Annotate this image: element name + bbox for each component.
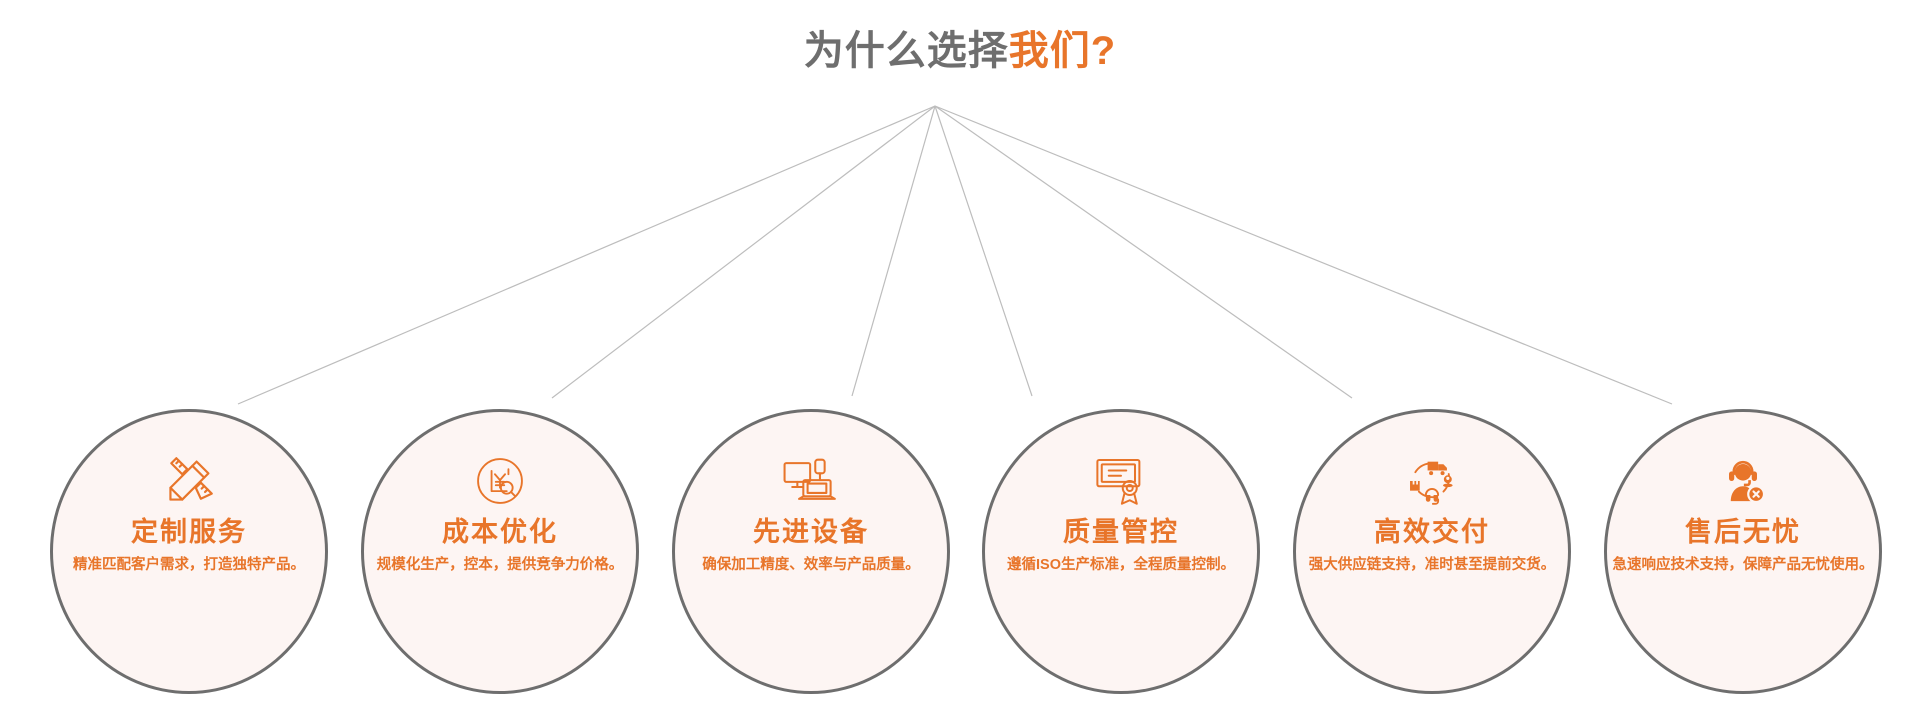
yen-search-icon bbox=[471, 452, 529, 510]
feature-circle-quality-control[interactable]: 质量管控遵循ISO生产标准，全程质量控制。 bbox=[982, 409, 1260, 694]
page-title: 为什么选择我们? bbox=[0, 28, 1920, 74]
feature-description: 急速响应技术支持，保障产品无忧使用。 bbox=[1613, 556, 1874, 575]
feature-description: 强大供应链支持，准时甚至提前交货。 bbox=[1309, 556, 1556, 575]
feature-description: 遵循ISO生产标准，全程质量控制。 bbox=[1007, 556, 1235, 575]
feature-heading: 质量管控 bbox=[1063, 516, 1179, 548]
feature-description: 精准匹配客户需求，打造独特产品。 bbox=[73, 556, 305, 575]
headset-agent-icon bbox=[1714, 452, 1772, 510]
certificate-award-icon bbox=[1092, 452, 1150, 510]
feature-circle-efficient-delivery[interactable]: 高效交付强大供应链支持，准时甚至提前交货。 bbox=[1293, 409, 1571, 694]
page-title-gray-part: 为什么选择 bbox=[804, 29, 1009, 73]
feature-heading: 先进设备 bbox=[753, 516, 869, 548]
connector-line-5 bbox=[935, 106, 1352, 398]
feature-heading: 高效交付 bbox=[1374, 516, 1490, 548]
feature-circle-cost-optimization[interactable]: 成本优化规模化生产，控本，提供竞争力价格。 bbox=[361, 409, 639, 694]
feature-description: 确保加工精度、效率与产品质量。 bbox=[702, 556, 920, 575]
feature-description: 规模化生产，控本，提供竞争力价格。 bbox=[377, 556, 624, 575]
connector-line-2 bbox=[552, 106, 935, 398]
feature-heading: 售后无忧 bbox=[1685, 516, 1801, 548]
feature-circle-advanced-equipment[interactable]: 先进设备确保加工精度、效率与产品质量。 bbox=[672, 409, 950, 694]
page-title-accent-part: 我们? bbox=[1009, 29, 1116, 73]
pencil-ruler-icon bbox=[160, 452, 218, 510]
feature-circle-custom-service[interactable]: 定制服务精准匹配客户需求，打造独特产品。 bbox=[50, 409, 328, 694]
feature-heading: 定制服务 bbox=[131, 516, 247, 548]
feature-circle-after-sales-support[interactable]: 售后无忧急速响应技术支持，保障产品无忧使用。 bbox=[1604, 409, 1882, 694]
infographic-stage: 为什么选择我们? 定制服务精准匹配客户需求，打造独特产品。 成 bbox=[0, 0, 1920, 719]
connector-line-4 bbox=[935, 106, 1032, 396]
connector-line-6 bbox=[935, 106, 1672, 404]
feature-heading: 成本优化 bbox=[442, 516, 558, 548]
supply-chain-truck-icon bbox=[1403, 452, 1461, 510]
feature-circle-row: 定制服务精准匹配客户需求，打造独特产品。 成本优化规模化生产，控本，提供竞争力价… bbox=[0, 409, 1920, 699]
connector-line-3 bbox=[852, 106, 935, 396]
monitor-laptop-icon bbox=[782, 452, 840, 510]
connector-line-1 bbox=[238, 106, 935, 404]
